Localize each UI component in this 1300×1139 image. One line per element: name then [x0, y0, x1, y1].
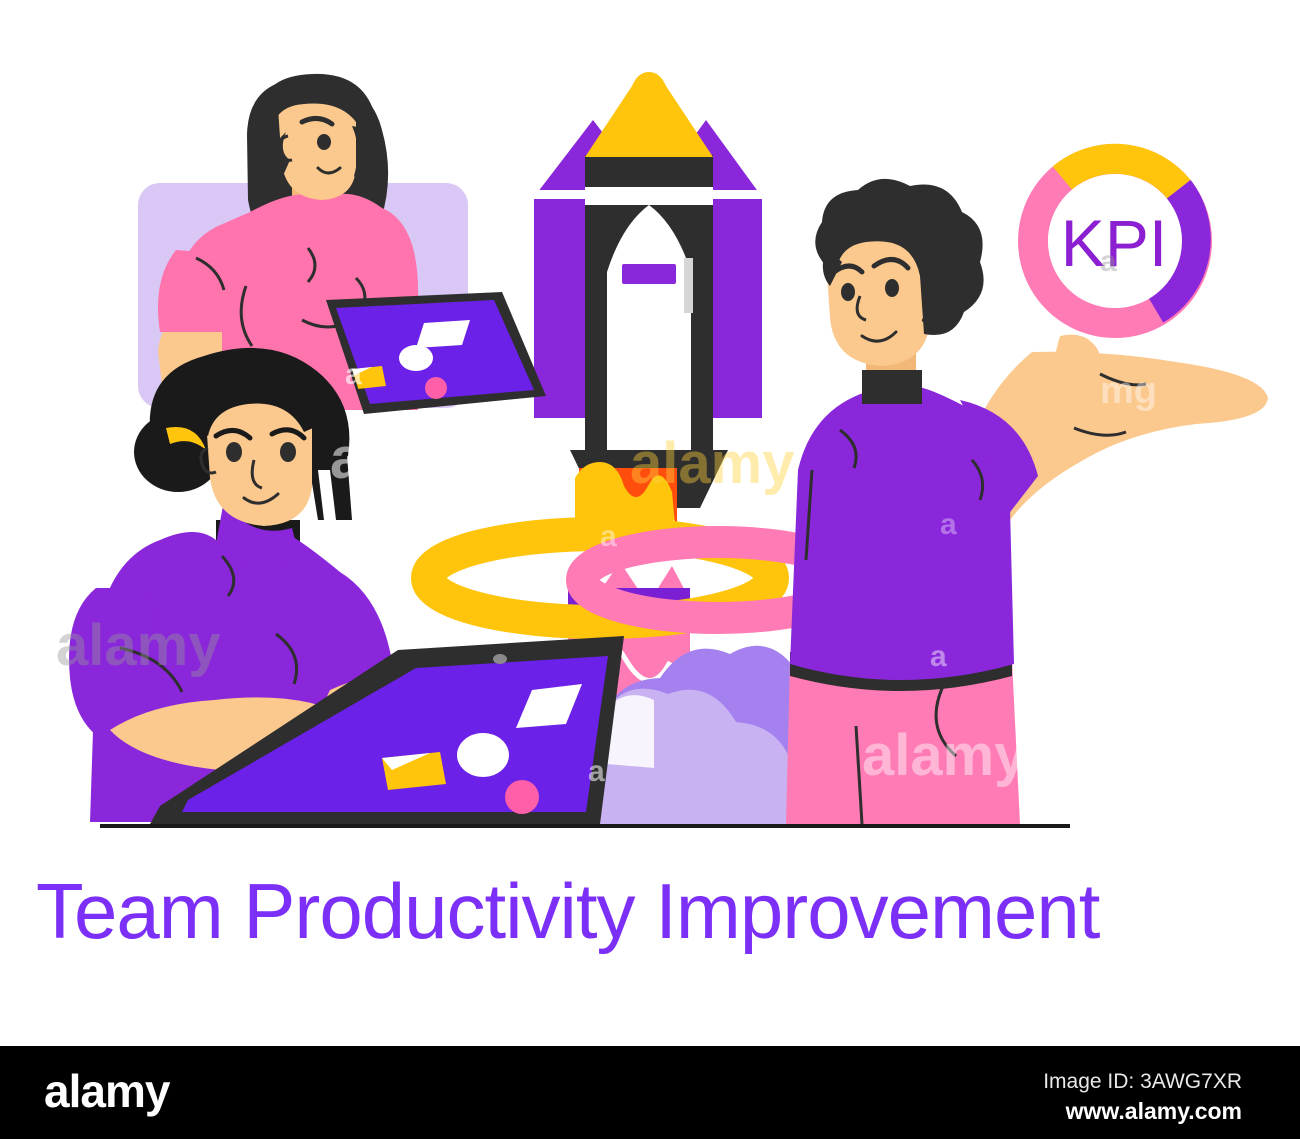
tablet-lower-ellipse [457, 733, 509, 777]
rocket-inner-body [607, 205, 691, 455]
rocket-nose-cone [585, 72, 713, 157]
alamy-logo: alamy [44, 1064, 169, 1118]
man-eye-left [841, 283, 855, 301]
man-eye-right [885, 279, 899, 297]
woman-pink-eye [317, 134, 331, 150]
tablet-upper-pink-dot [425, 377, 447, 399]
kpi-label: KPI [1061, 206, 1167, 280]
illustration-artwork: KPI [0, 0, 1300, 860]
woman-purple-eye-left [226, 442, 242, 462]
man-hand-thumb [1052, 335, 1100, 379]
tablet-lower-pink-dot [505, 780, 539, 814]
rocket-inner-shadow [684, 258, 693, 313]
tablet-lower-camera [493, 654, 507, 664]
tablet-upper-white-card [416, 320, 470, 348]
man-neck-shadow [862, 370, 922, 404]
alamy-url[interactable]: www.alamy.com [1066, 1098, 1242, 1125]
screenshot-root: KPI alamy a a alamy alamy a a a mg a ala… [0, 0, 1300, 1139]
rocket-window [622, 264, 676, 284]
illustration-svg: KPI [0, 0, 1300, 860]
image-id-text: Image ID: 3AWG7XR [1043, 1070, 1242, 1094]
kpi-chart: KPI [1033, 159, 1197, 323]
tablet-upper [326, 292, 546, 414]
rocket-body-white-band [585, 187, 713, 205]
page-title: Team Productivity Improvement [36, 866, 1266, 956]
rocket-body-band [585, 155, 713, 187]
tablet-upper-ellipse [399, 345, 433, 371]
stock-footer-bar: alamy Image ID: 3AWG7XR www.alamy.com [0, 1046, 1300, 1139]
woman-purple-eye-right [280, 442, 296, 462]
